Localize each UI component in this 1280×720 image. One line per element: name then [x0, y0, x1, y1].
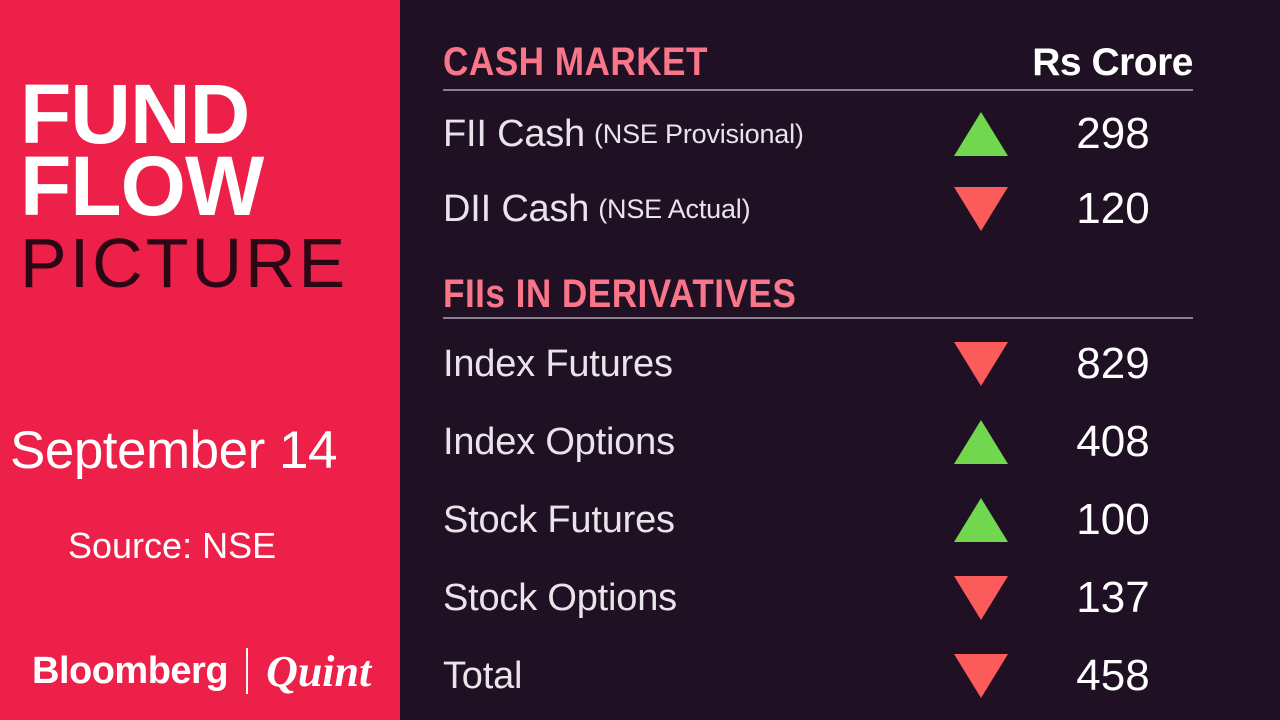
- row-label: Total: [443, 655, 522, 698]
- fund-flow-title-block: FUND FLOW PICTURE: [20, 78, 400, 298]
- section-rule-cash-market: [443, 89, 1193, 91]
- row-label: Stock Futures: [443, 499, 675, 542]
- trend-down-icon: [951, 576, 1011, 620]
- row-label: Index Futures: [443, 343, 673, 386]
- logo-quint-text: Quint: [266, 646, 371, 697]
- row-value: 120: [1033, 184, 1193, 234]
- trend-up-icon: [951, 112, 1011, 156]
- unit-label-rs-crore: Rs Crore: [1032, 41, 1193, 85]
- table-row: DII Cash (NSE Actual) 120: [443, 178, 1193, 240]
- table-row: FII Cash (NSE Provisional) 298: [443, 103, 1193, 165]
- row-label: Stock Options: [443, 577, 677, 620]
- section-title-fiis-derivatives: FIIs IN DERIVATIVES: [443, 272, 796, 317]
- logo-divider: [246, 648, 248, 694]
- row-label: DII Cash: [443, 188, 589, 231]
- trend-up-icon: [951, 498, 1011, 542]
- trend-down-icon: [951, 654, 1011, 698]
- row-value: 458: [1033, 651, 1193, 701]
- source-label: Source: NSE: [68, 525, 276, 567]
- brand-line-flow: FLOW: [20, 150, 400, 222]
- brand-line-picture: PICTURE: [20, 228, 400, 298]
- date-label: September 14: [10, 420, 400, 481]
- row-value: 137: [1033, 573, 1193, 623]
- data-panel: CASH MARKET Rs Crore FII Cash (NSE Provi…: [400, 0, 1280, 720]
- bloombergquint-logo: Bloomberg Quint: [32, 645, 371, 697]
- row-sublabel: (NSE Actual): [598, 194, 750, 225]
- left-branding-panel: FUND FLOW PICTURE September 14 Source: N…: [0, 0, 400, 720]
- table-row: Index Options 408: [443, 411, 1193, 473]
- trend-down-icon: [951, 342, 1011, 386]
- table-row: Stock Futures 100: [443, 489, 1193, 551]
- trend-up-icon: [951, 420, 1011, 464]
- section-header-fiis-derivatives: FIIs IN DERIVATIVES: [443, 272, 1193, 317]
- row-value: 100: [1033, 495, 1193, 545]
- section-rule-fiis-derivatives: [443, 317, 1193, 319]
- row-label: Index Options: [443, 421, 675, 464]
- trend-down-icon: [951, 187, 1011, 231]
- table-row: Total 458: [443, 645, 1193, 707]
- row-label: FII Cash: [443, 113, 585, 156]
- row-sublabel: (NSE Provisional): [594, 119, 804, 150]
- table-row: Stock Options 137: [443, 567, 1193, 629]
- row-value: 298: [1033, 109, 1193, 159]
- infographic-root: FUND FLOW PICTURE September 14 Source: N…: [0, 0, 1280, 720]
- table-row: Index Futures 829: [443, 333, 1193, 395]
- row-value: 829: [1033, 339, 1193, 389]
- logo-bloomberg-text: Bloomberg: [32, 650, 228, 693]
- section-header-cash-market: CASH MARKET Rs Crore: [443, 40, 1193, 85]
- section-title-cash-market: CASH MARKET: [443, 40, 708, 85]
- row-value: 408: [1033, 417, 1193, 467]
